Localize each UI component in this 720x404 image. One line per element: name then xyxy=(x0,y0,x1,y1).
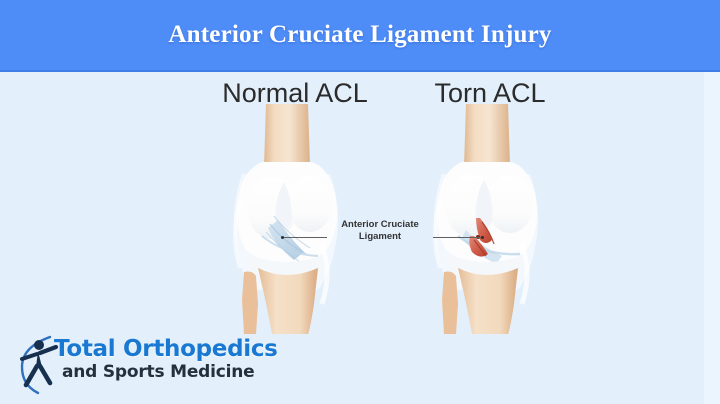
femur-shaft xyxy=(464,104,510,170)
logo-primary-text: Total Orthopedics xyxy=(54,337,240,362)
tibia xyxy=(258,268,318,334)
lateral-condyle xyxy=(487,175,533,233)
leader-line-left xyxy=(283,237,327,238)
logo-wordmark: Total Orthopedics and Sports Medicine xyxy=(54,337,240,382)
annotation-line-1: Anterior Cruciate xyxy=(325,219,435,231)
annotation-label: Anterior Cruciate Ligament xyxy=(325,219,435,243)
logo-figure-leg-left xyxy=(26,366,37,385)
logo-secondary-text: and Sports Medicine xyxy=(62,362,240,382)
logo-figure-head xyxy=(34,340,44,350)
title-banner: Anterior Cruciate Ligament Injury xyxy=(0,0,720,72)
knee-diagram-torn xyxy=(422,104,552,334)
slide-title: Anterior Cruciate Ligament Injury xyxy=(0,21,720,49)
slide-canvas: Anterior Cruciate Ligament Injury Normal… xyxy=(0,0,720,404)
leader-endpoint-right xyxy=(481,236,484,239)
tibia xyxy=(458,268,518,334)
femur-shaft xyxy=(264,104,310,170)
brand-logo[interactable]: Total Orthopedics and Sports Medicine xyxy=(12,333,237,395)
leader-endpoint-left xyxy=(281,236,284,239)
background-right-strip xyxy=(704,72,720,404)
fibula xyxy=(442,272,458,335)
fibula xyxy=(242,272,258,335)
annotation-line-2: Ligament xyxy=(325,231,435,243)
leader-line-right xyxy=(433,237,483,238)
logo-figure-leg-right xyxy=(40,366,50,383)
